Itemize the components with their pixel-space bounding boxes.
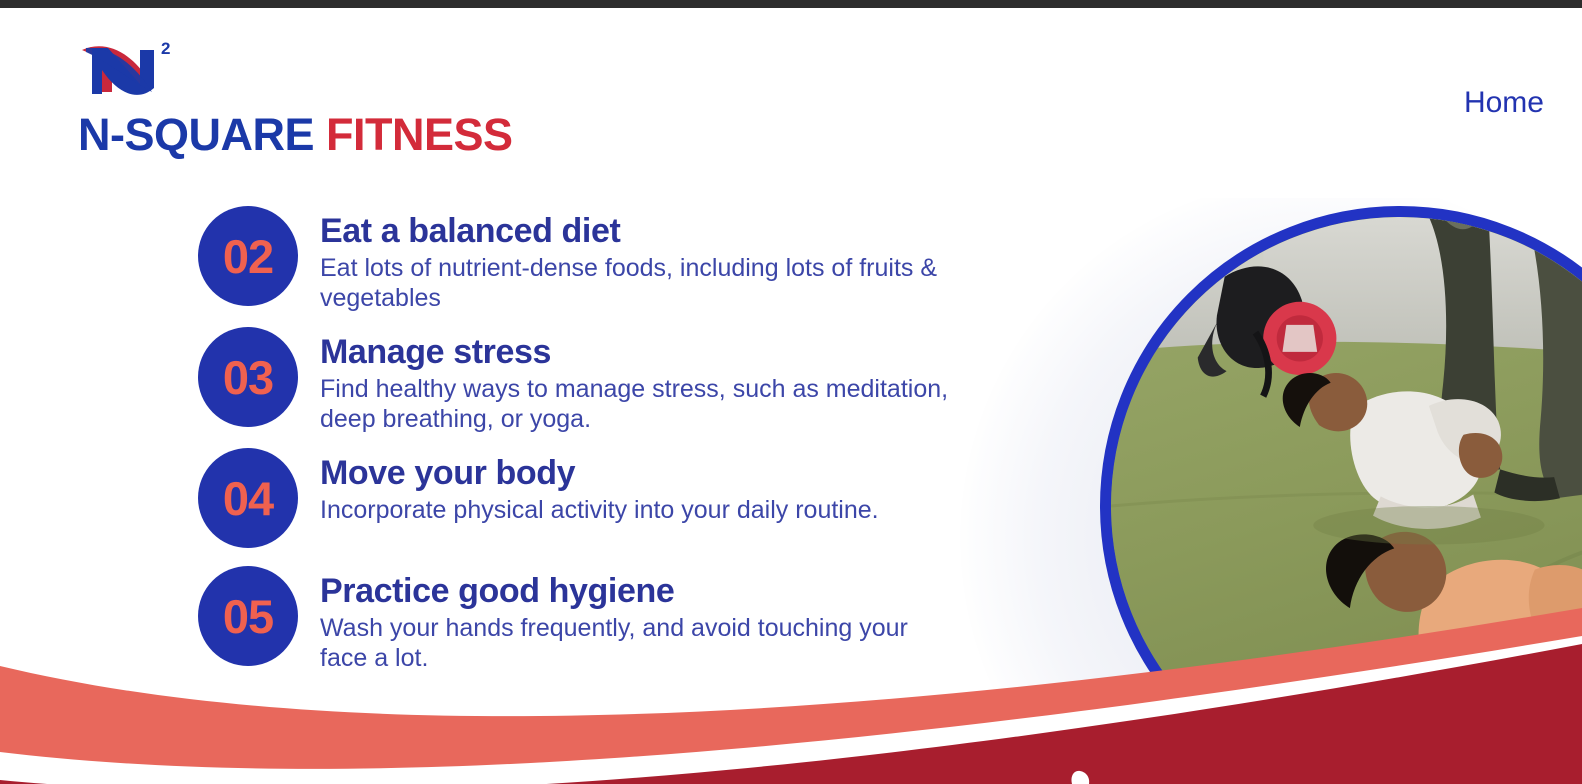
tip-description: Incorporate physical activity into your …: [320, 496, 879, 526]
brand-lockup[interactable]: 2 N-SQUARE FITNESS: [78, 36, 698, 157]
gym-stretch-photo-illustration: [1111, 217, 1582, 784]
list-item: 04 Move your body Incorporate physical a…: [198, 448, 958, 548]
browser-chrome-edge: [0, 0, 1582, 8]
health-tips-list: 02 Eat a balanced diet Eat lots of nutri…: [198, 206, 958, 687]
list-item: 05 Practice good hygiene Wash your hands…: [198, 566, 958, 673]
tip-body: Move your body Incorporate physical acti…: [320, 448, 879, 526]
page-root: 2 N-SQUARE FITNESS Home A: [0, 8, 1582, 784]
brand-name-secondary: FITNESS: [326, 109, 513, 160]
tip-title: Manage stress: [320, 333, 958, 371]
tip-description: Find healthy ways to manage stress, such…: [320, 375, 958, 434]
brand-name-primary: N-SQUARE: [78, 109, 314, 160]
tip-number-badge: 03: [198, 327, 298, 427]
tip-number-badge: 04: [198, 448, 298, 548]
tip-number-badge: 05: [198, 566, 298, 666]
hero-photo: [1111, 217, 1582, 784]
tip-description: Eat lots of nutrient-dense foods, includ…: [320, 254, 958, 313]
list-item: 02 Eat a balanced diet Eat lots of nutri…: [198, 206, 958, 313]
svg-text:2: 2: [161, 39, 170, 58]
list-item: 03 Manage stress Find healthy ways to ma…: [198, 327, 958, 434]
hero-section: 02 Eat a balanced diet Eat lots of nutri…: [0, 198, 1582, 784]
main-nav[interactable]: Home A: [1464, 86, 1582, 120]
tip-title: Practice good hygiene: [320, 572, 958, 610]
tip-description: Wash your hands frequently, and avoid to…: [320, 614, 958, 673]
tip-body: Manage stress Find healthy ways to manag…: [320, 327, 958, 434]
tip-number-badge: 02: [198, 206, 298, 306]
nav-link-home[interactable]: Home: [1464, 86, 1544, 120]
brand-name: N-SQUARE FITNESS: [78, 112, 698, 157]
tip-body: Practice good hygiene Wash your hands fr…: [320, 566, 958, 673]
site-header: 2 N-SQUARE FITNESS Home A: [0, 8, 1582, 198]
footer-partial-glyph-icon: [1068, 766, 1094, 784]
tip-body: Eat a balanced diet Eat lots of nutrient…: [320, 206, 958, 313]
n-squared-logo-icon: 2: [78, 36, 178, 104]
tip-title: Move your body: [320, 454, 879, 492]
tip-title: Eat a balanced diet: [320, 212, 958, 250]
